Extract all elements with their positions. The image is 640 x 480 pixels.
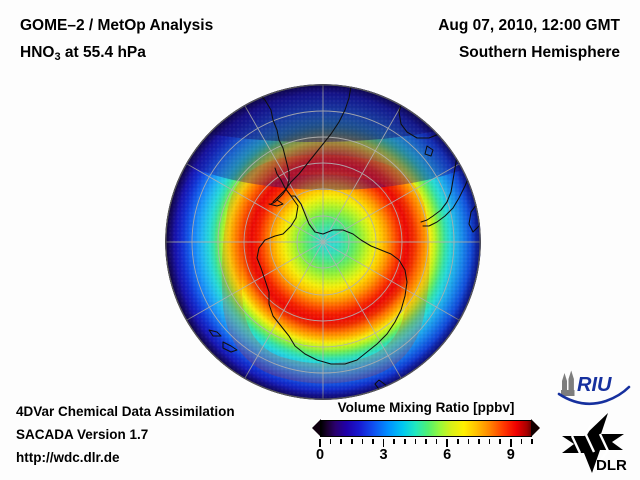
colorbar-minor-tick <box>425 439 427 444</box>
colorbar-minor-tick <box>468 439 470 444</box>
colorbar-minor-tick <box>362 439 364 444</box>
colorbar-major-tick <box>319 439 321 447</box>
colorbar-minor-tick <box>415 439 417 444</box>
colorbar-block: Volume Mixing Ratio [ppbv] 0369 <box>312 400 540 470</box>
globe-svg <box>165 84 481 400</box>
riu-cathedral-icon <box>561 371 575 397</box>
riu-logo: RIU <box>556 370 636 408</box>
colorbar-minor-tick <box>351 439 353 444</box>
colorbar-tick-label: 0 <box>316 447 324 463</box>
species-pressure-title: HNO3 at 55.4 hPa <box>20 44 146 63</box>
colorbar-minor-tick <box>478 439 480 444</box>
figure-canvas: GOME–2 / MetOp Analysis HNO3 at 55.4 hPa… <box>0 0 640 480</box>
colorbar-tick-label: 6 <box>443 447 451 463</box>
limb-shading <box>165 84 481 400</box>
colorbar-minor-tick <box>372 439 374 444</box>
colorbar-tick-label: 3 <box>380 447 388 463</box>
footer-line-method: 4DVar Chemical Data Assimilation <box>16 400 235 423</box>
colorbar-title: Volume Mixing Ratio [ppbv] <box>312 400 540 415</box>
hemisphere-label: Southern Hemisphere <box>459 44 620 62</box>
colorbar-minor-tick <box>457 439 459 444</box>
instrument-title: GOME–2 / MetOp Analysis <box>20 17 213 35</box>
colorbar-minor-tick <box>330 439 332 444</box>
dlr-logo: DLR <box>560 412 636 474</box>
colorbar-extend-high-arrow <box>531 419 540 437</box>
species-pressure-suffix: at 55.4 hPa <box>61 44 146 61</box>
colorbar-minor-tick <box>531 439 533 444</box>
colorbar-tick-labels: 0369 <box>312 447 540 469</box>
colorbar-major-tick <box>446 439 448 447</box>
colorbar-minor-tick <box>521 439 523 444</box>
species-formula-prefix: HNO <box>20 44 54 61</box>
footer-block: 4DVar Chemical Data Assimilation SACADA … <box>16 400 235 469</box>
colorbar-minor-tick <box>489 439 491 444</box>
colorbar-minor-tick <box>340 439 342 444</box>
colorbar-minor-tick <box>393 439 395 444</box>
colorbar-row <box>312 419 540 439</box>
footer-line-version: SACADA Version 1.7 <box>16 423 235 446</box>
colorbar-major-tick <box>383 439 385 447</box>
colorbar-gradient <box>320 420 532 437</box>
colorbar-tick-label: 9 <box>507 447 515 463</box>
map-panel <box>165 84 481 400</box>
globe-contents <box>165 84 481 400</box>
colorbar-minor-tick <box>436 439 438 444</box>
riu-wordmark: RIU <box>577 374 612 396</box>
datetime-label: Aug 07, 2010, 12:00 GMT <box>438 17 620 35</box>
footer-line-url[interactable]: http://wdc.dlr.de <box>16 446 235 469</box>
orthographic-globe <box>165 84 481 400</box>
colorbar-minor-tick <box>404 439 406 444</box>
colorbar-major-tick <box>510 439 512 447</box>
dlr-wordmark: DLR <box>596 457 627 474</box>
colorbar-ticks <box>312 439 540 447</box>
colorbar-minor-tick <box>499 439 501 444</box>
